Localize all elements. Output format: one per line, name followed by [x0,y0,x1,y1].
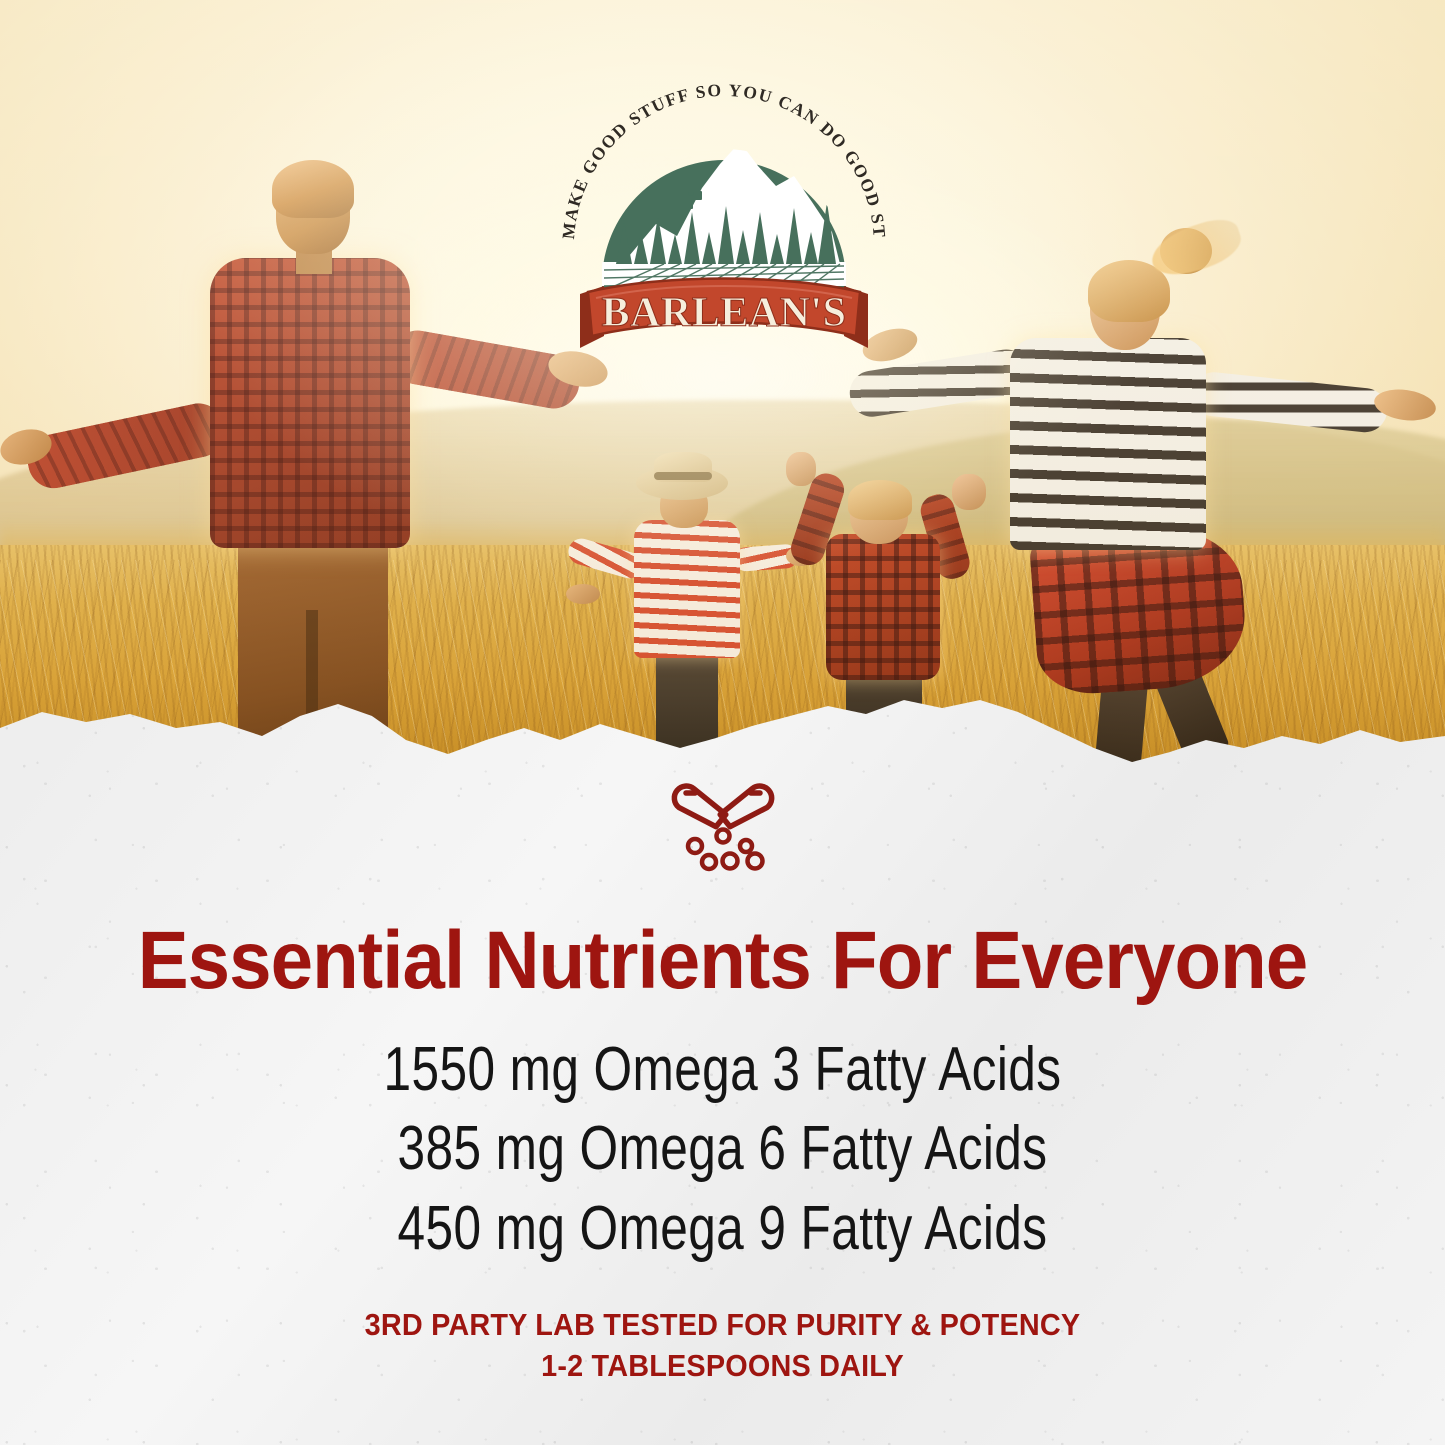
omega-6-line: 385 mg Omega 6 Fatty Acids [145,1109,1301,1188]
barleans-logo[interactable]: WE MAKE GOOD STUFF SO YOU CAN DO GOOD ST… [544,36,904,366]
lab-tested-line: 3RD PARTY LAB TESTED FOR PURITY & POTENC… [51,1304,1395,1345]
dosage-line: 1-2 TABLESPOONS DAILY [51,1345,1395,1386]
logo-wordmark: BARLEAN'S [602,290,847,336]
logo-banner: BARLEAN'S [580,279,868,349]
omega-droplets [688,830,763,870]
omega-capsules-icon [662,776,784,874]
omega-list: 1550 mg Omega 3 Fatty Acids 385 mg Omega… [0,1030,1445,1268]
content-panel: Essential Nutrients For Everyone 1550 mg… [0,760,1445,1387]
omega-9-line: 450 mg Omega 9 Fatty Acids [145,1189,1301,1268]
omega-3-line: 1550 mg Omega 3 Fatty Acids [145,1030,1301,1109]
footer-claims: 3RD PARTY LAB TESTED FOR PURITY & POTENC… [0,1304,1445,1386]
page-headline: Essential Nutrients For Everyone [51,918,1395,1004]
product-infographic: WE MAKE GOOD STUFF SO YOU CAN DO GOOD ST… [0,0,1445,1445]
